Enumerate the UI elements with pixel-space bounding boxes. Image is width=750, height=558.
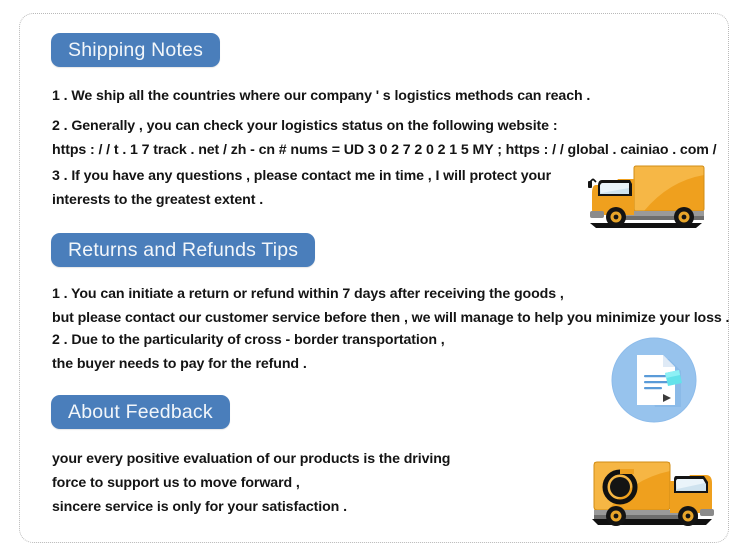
returns-line-4: the buyer needs to pay for the refund . — [52, 351, 307, 377]
shipping-tracking-urls: https : / / t . 1 7 track . net / zh - c… — [52, 137, 716, 163]
delivery-truck-right-icon — [586, 455, 718, 527]
shipping-info-banner: Shipping Notes 1 . We ship all the count… — [0, 0, 750, 558]
shipping-line-1: 1 . We ship all the countries where our … — [52, 83, 590, 109]
section-heading-shipping-notes: Shipping Notes — [51, 33, 220, 67]
delivery-truck-icon — [584, 163, 708, 229]
shipping-line-5: interests to the greatest extent . — [52, 187, 263, 213]
section-heading-about-feedback: About Feedback — [51, 395, 230, 429]
banner-content: Shipping Notes 1 . We ship all the count… — [0, 0, 750, 558]
feedback-line-2: force to support us to move forward , — [52, 470, 300, 496]
section-heading-returns-and-refunds-tips: Returns and Refunds Tips — [51, 233, 315, 267]
shipping-line-4: 3 . If you have any questions , please c… — [52, 163, 551, 189]
shipping-line-2: 2 . Generally , you can check your logis… — [52, 113, 557, 139]
feedback-line-1: your every positive evaluation of our pr… — [52, 446, 450, 472]
feedback-line-3: sincere service is only for your satisfa… — [52, 494, 347, 520]
refund-document-icon — [611, 337, 697, 423]
returns-line-1: 1 . You can initiate a return or refund … — [52, 281, 564, 307]
returns-line-3: 2 . Due to the particularity of cross - … — [52, 327, 445, 353]
